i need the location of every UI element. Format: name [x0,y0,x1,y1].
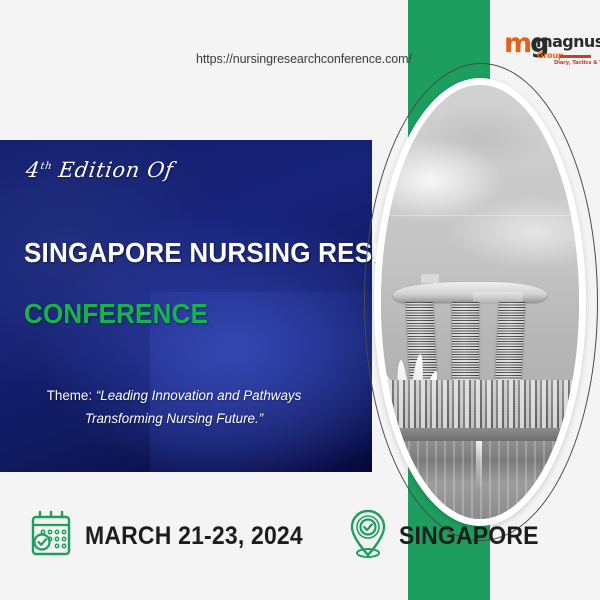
waterfront-promenade [381,428,579,441]
logo-tagline: Diary, Tactics & Time ! [554,61,600,66]
marina-bay-sands-skypark [393,282,547,302]
edition-text: Edition Of [50,158,175,182]
event-details-bar: MARCH 21-23, 2024 SINGAPORE [30,505,551,567]
venue-photo [381,85,579,519]
calendar-check-icon [30,509,72,564]
photo-seam [381,215,579,216]
event-location: SINGAPORE [399,522,539,551]
conference-poster: https://nursingresearchconference.com/ m… [0,0,600,600]
conference-theme: Theme: “Leading Innovation and Pathways … [24,384,324,431]
edition-label: 4th Edition Of [24,158,175,182]
theme-quote-line1: “Leading Innovation and Pathways [96,388,301,403]
conference-website-url[interactable]: https://nursingresearchconference.com/ [196,52,412,66]
magnus-group-logo[interactable]: mg magnus Group Diary, Tactics & Time ! [496,28,592,76]
logo-divider [560,55,591,58]
theme-quote-line2: Transforming Nursing Future.” [85,411,263,426]
logo-wordmark: magnus [536,34,600,50]
city-skyline [381,380,579,432]
logo-monogram-m: m [504,28,530,59]
event-date: MARCH 21-23, 2024 [85,522,303,551]
conference-title-line2: CONFERENCE [24,298,208,330]
theme-label: Theme: [47,388,96,403]
location-pin-check-icon [348,508,388,565]
venue-photo-frame [374,78,586,526]
